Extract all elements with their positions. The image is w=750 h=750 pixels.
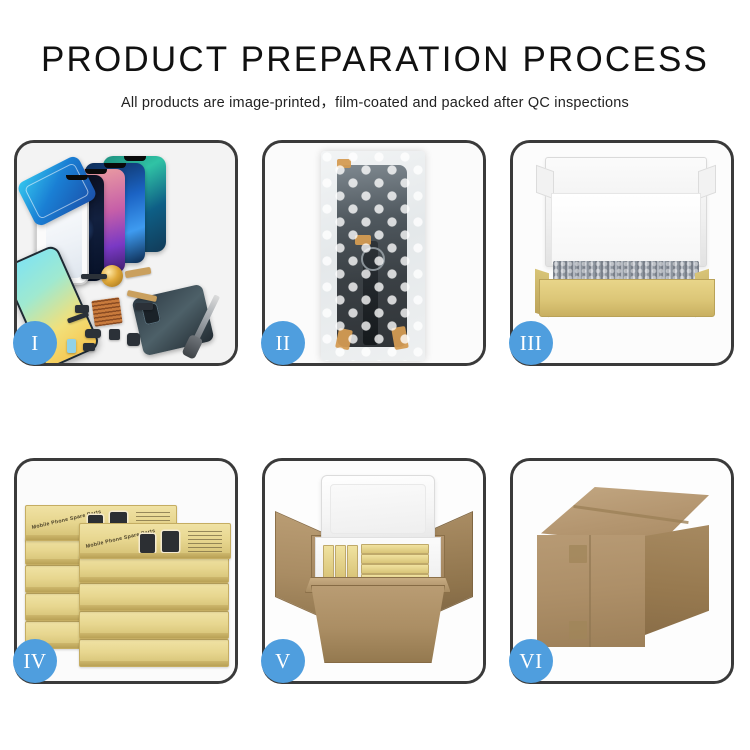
- packed-box: [361, 544, 429, 554]
- small-part: [109, 329, 120, 340]
- small-part: [81, 274, 107, 279]
- stacked-box: [79, 639, 229, 667]
- copper-shield-mesh: [91, 297, 122, 327]
- process-step-1: I: [14, 140, 238, 366]
- notch-icon: [66, 175, 88, 180]
- step-badge-5: V: [261, 639, 305, 683]
- styrofoam-lid: [321, 475, 435, 543]
- step-badge-3: III: [509, 321, 553, 365]
- process-step-5: V: [262, 458, 486, 684]
- stacked-box-top-right: Mobile Phone Spare Parts: [79, 523, 231, 559]
- packed-box: [347, 545, 358, 579]
- foam-sheet: [551, 193, 701, 265]
- small-part: [83, 343, 95, 351]
- page-title: PRODUCT PREPARATION PROCESS: [0, 42, 750, 79]
- stacked-box: [79, 611, 229, 639]
- stacked-box: [79, 583, 229, 611]
- yellow-box-front: [539, 279, 715, 317]
- box-spec-lines: [188, 530, 222, 552]
- stacked-box: [79, 555, 229, 583]
- carton-front-seam: [589, 535, 591, 647]
- step-badge-2: II: [261, 321, 305, 365]
- header: PRODUCT PREPARATION PROCESS All products…: [0, 0, 750, 112]
- packed-box: [323, 545, 334, 579]
- small-part: [85, 329, 101, 338]
- step-badge-6: VI: [509, 639, 553, 683]
- carton-tape: [569, 621, 587, 639]
- carton-tape: [569, 545, 587, 563]
- infographic-page: PRODUCT PREPARATION PROCESS All products…: [0, 0, 750, 750]
- small-part: [127, 333, 140, 346]
- notch-icon: [124, 156, 146, 161]
- small-part: [135, 303, 153, 310]
- packed-box: [335, 545, 346, 579]
- notch-icon: [104, 163, 126, 168]
- step-badge-4: IV: [13, 639, 57, 683]
- carton-front-face: [537, 535, 645, 647]
- bubble-texture: [321, 151, 425, 361]
- bubble-wrap-bag: [321, 151, 425, 361]
- packed-box: [361, 554, 429, 564]
- packed-boxes-group: [323, 543, 431, 579]
- process-step-6: VI: [510, 458, 734, 684]
- notch-icon: [85, 169, 107, 174]
- carton-side-face: [645, 525, 709, 635]
- box-phone-graphic: [140, 534, 155, 553]
- process-step-2: II: [262, 140, 486, 366]
- flex-cable: [125, 267, 152, 278]
- small-part: [67, 339, 76, 353]
- box-phone-graphic: [162, 531, 179, 552]
- page-subtitle: All products are image-printed，film-coat…: [0, 91, 750, 112]
- process-step-4: Mobile Phone Spare Parts Mobile Phone Sp…: [14, 458, 238, 684]
- carton-front-wall: [311, 585, 445, 663]
- process-step-3: III: [510, 140, 734, 366]
- packed-box: [361, 564, 429, 574]
- process-grid: I II: [14, 140, 738, 684]
- step-badge-1: I: [13, 321, 57, 365]
